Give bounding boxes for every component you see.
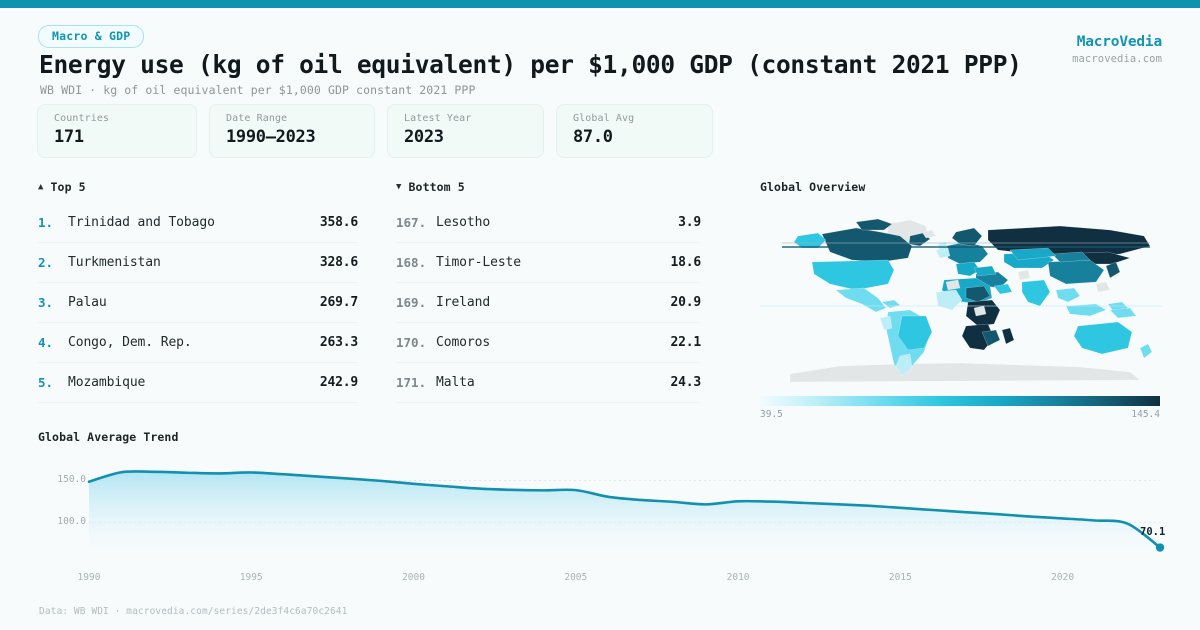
stat-label: Global Avg: [573, 113, 696, 125]
rank-number: 5.: [38, 375, 62, 390]
global-overview-panel: Global Overview 39.5 145.4: [760, 180, 1162, 420]
rank-number: 4.: [38, 335, 62, 350]
table-row[interactable]: 168. Timor-Leste 18.6: [396, 243, 701, 283]
footer-source: Data: WB WDI · macrovedia.com/series/2de…: [39, 606, 347, 617]
country-name: Congo, Dem. Rep.: [62, 335, 320, 350]
category-badge[interactable]: Macro & GDP: [38, 25, 144, 48]
country-name: Mozambique: [62, 375, 320, 390]
rank-number: 1.: [38, 215, 62, 230]
country-name: Timor-Leste: [436, 255, 670, 270]
bottom-5-panel: ▼ Bottom 5 167. Lesotho 3.9 168. Timor-L…: [396, 180, 701, 403]
table-row[interactable]: 5. Mozambique 242.9: [38, 363, 358, 403]
stat-card-latest-year: Latest Year 2023: [387, 104, 544, 158]
country-value: 18.6: [670, 255, 701, 270]
rank-number: 167.: [396, 215, 436, 230]
country-name: Lesotho: [436, 215, 678, 230]
stat-label: Date Range: [226, 113, 358, 125]
table-row[interactable]: 2. Turkmenistan 328.6: [38, 243, 358, 283]
legend-max-label: 145.4: [1131, 409, 1160, 420]
stat-label: Latest Year: [404, 113, 527, 125]
country-value: 263.3: [320, 335, 358, 350]
table-row[interactable]: 4. Congo, Dem. Rep. 263.3: [38, 323, 358, 363]
top-5-heading-label: Top 5: [51, 180, 86, 194]
brand-name: MacroVedia: [1072, 34, 1162, 50]
country-value: 3.9: [678, 215, 701, 230]
rank-number: 171.: [396, 375, 436, 390]
top-5-heading: ▲ Top 5: [38, 180, 358, 194]
rank-number: 3.: [38, 295, 62, 310]
country-name: Trinidad and Tobago: [62, 215, 320, 230]
table-row[interactable]: 171. Malta 24.3: [396, 363, 701, 403]
country-value: 242.9: [320, 375, 358, 390]
brand[interactable]: MacroVedia macrovedia.com: [1072, 34, 1162, 65]
stat-label: Countries: [54, 113, 180, 125]
top-accent-bar: [0, 0, 1200, 8]
map-heading: Global Overview: [760, 180, 1162, 194]
stat-card-row: Countries 171 Date Range 1990–2023 Lates…: [37, 104, 713, 158]
country-name: Comoros: [436, 335, 670, 350]
triangle-up-icon: ▲: [38, 183, 44, 192]
trend-svg: [38, 456, 1168, 586]
stat-card-date-range: Date Range 1990–2023: [209, 104, 375, 158]
brand-url: macrovedia.com: [1072, 53, 1162, 65]
country-name: Palau: [62, 295, 320, 310]
rank-number: 169.: [396, 295, 436, 310]
stat-value: 1990–2023: [226, 126, 358, 148]
country-name: Turkmenistan: [62, 255, 320, 270]
trend-chart[interactable]: 100.0150.0199019952000200520102015202070…: [38, 456, 1168, 586]
country-value: 24.3: [670, 375, 701, 390]
top-5-panel: ▲ Top 5 1. Trinidad and Tobago 358.6 2. …: [38, 180, 358, 403]
stat-card-countries: Countries 171: [37, 104, 197, 158]
country-value: 20.9: [670, 295, 701, 310]
country-name: Ireland: [436, 295, 670, 310]
table-row[interactable]: 167. Lesotho 3.9: [396, 203, 701, 243]
stat-value: 87.0: [573, 126, 696, 148]
country-name: Malta: [436, 375, 670, 390]
table-row[interactable]: 1. Trinidad and Tobago 358.6: [38, 203, 358, 243]
trend-heading: Global Average Trend: [38, 430, 1168, 444]
rank-number: 170.: [396, 335, 436, 350]
stat-value: 2023: [404, 126, 527, 148]
country-value: 328.6: [320, 255, 358, 270]
legend-min-label: 39.5: [760, 409, 783, 420]
stat-value: 171: [54, 126, 180, 148]
table-row[interactable]: 170. Comoros 22.1: [396, 323, 701, 363]
table-row[interactable]: 3. Palau 269.7: [38, 283, 358, 323]
country-value: 358.6: [320, 215, 358, 230]
country-value: 269.7: [320, 295, 358, 310]
world-choropleth-map[interactable]: [760, 206, 1162, 388]
stat-card-global-avg: Global Avg 87.0: [556, 104, 713, 158]
page-subtitle: WB WDI · kg of oil equivalent per $1,000…: [40, 83, 475, 97]
rank-number: 168.: [396, 255, 436, 270]
triangle-down-icon: ▼: [396, 183, 402, 192]
page-title: Energy use (kg of oil equivalent) per $1…: [39, 50, 1022, 79]
rank-number: 2.: [38, 255, 62, 270]
map-color-legend: [760, 396, 1160, 406]
map-legend-labels: 39.5 145.4: [760, 409, 1160, 420]
bottom-5-heading: ▼ Bottom 5: [396, 180, 701, 194]
bottom-5-heading-label: Bottom 5: [409, 180, 465, 194]
table-row[interactable]: 169. Ireland 20.9: [396, 283, 701, 323]
country-value: 22.1: [670, 335, 701, 350]
global-average-trend-panel: Global Average Trend 100.0150.0199019952…: [38, 430, 1168, 586]
map-svg: [760, 206, 1162, 388]
